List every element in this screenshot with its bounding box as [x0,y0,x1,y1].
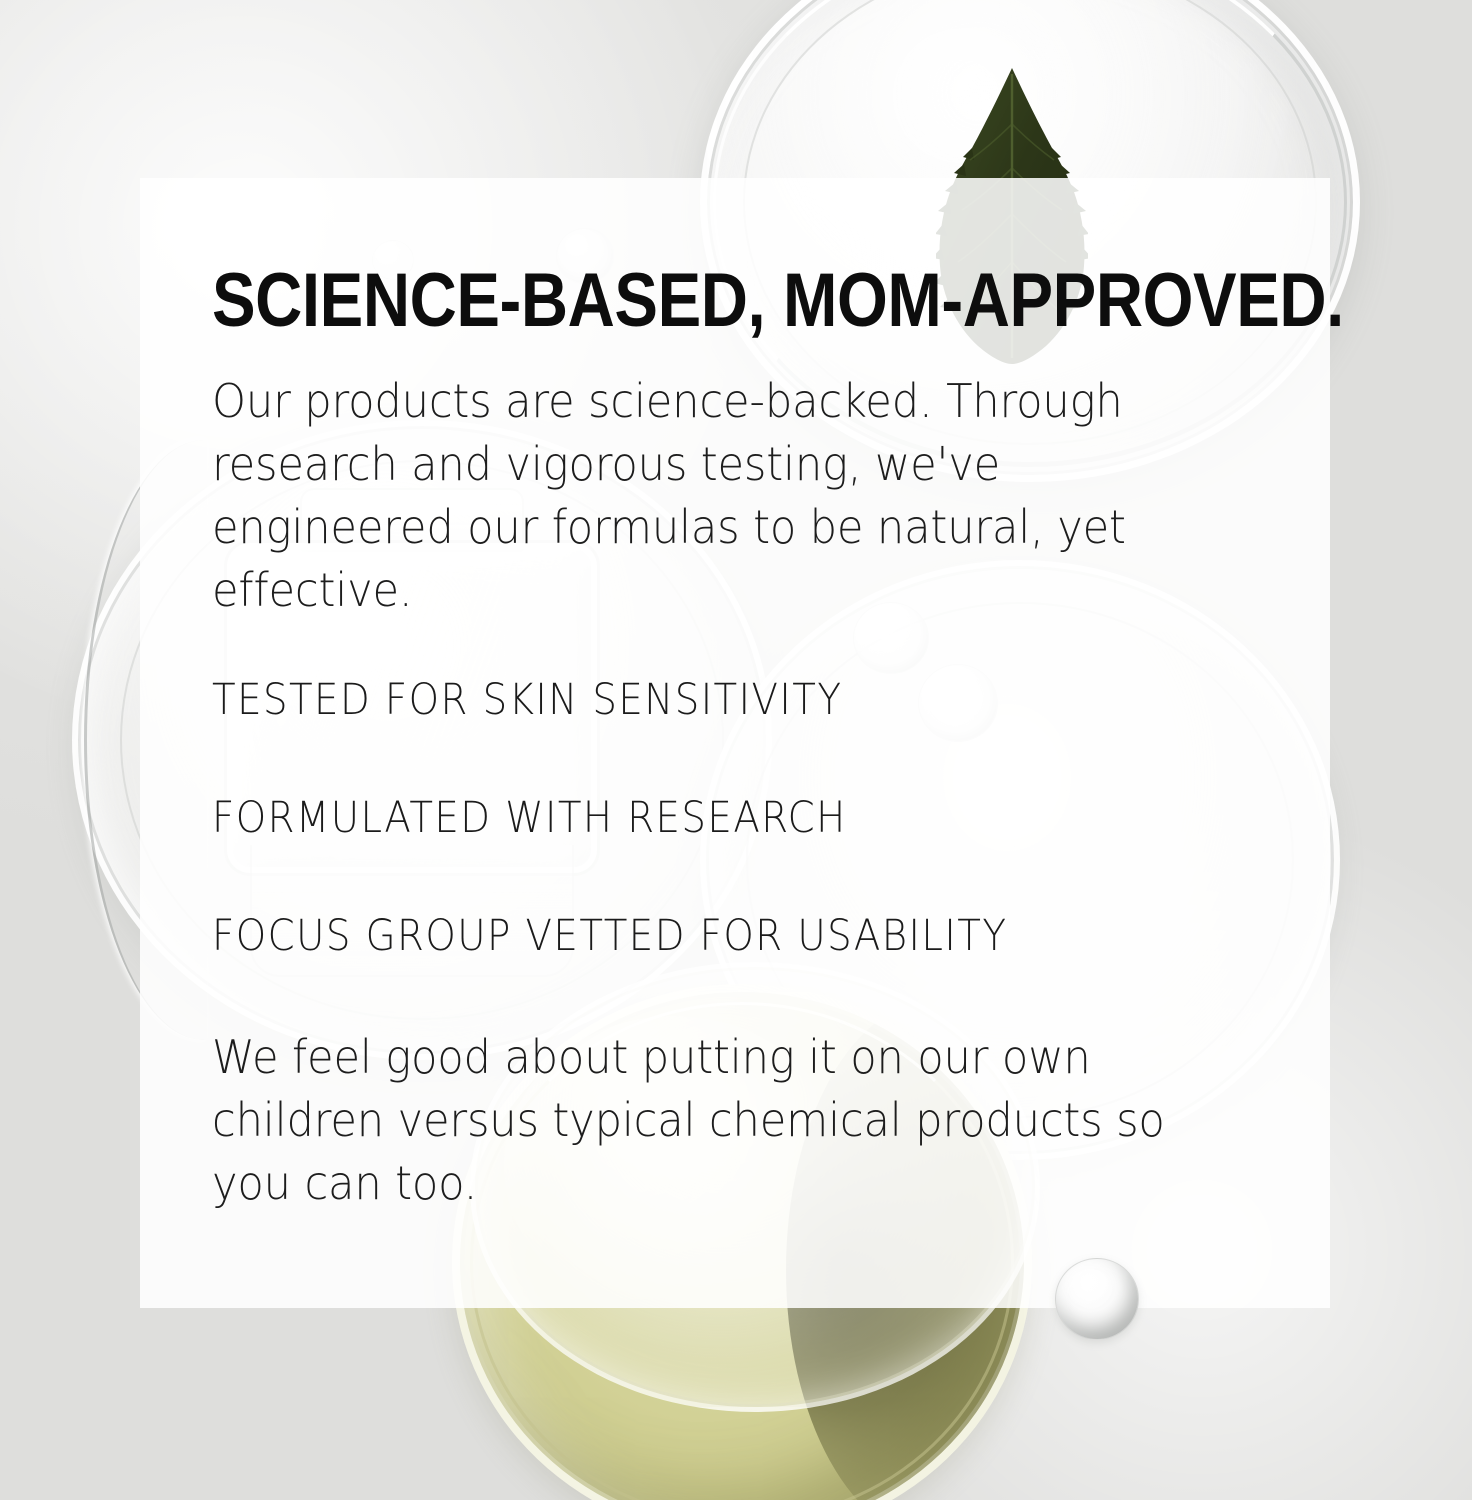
water-droplet-icon [1055,1258,1139,1340]
feature-item-usability: FOCUS GROUP VETTED FOR USABILITY [212,910,1166,962]
promo-image-canvas: SCIENCE-BASED, MOM-APPROVED. Our product… [0,0,1472,1500]
feature-item-research: FORMULATED WITH RESEARCH [212,792,1166,844]
feature-item-skin-sensitivity: TESTED FOR SKIN SENSITIVITY [212,674,1166,726]
droplet-highlight [1068,1269,1114,1309]
feature-list: TESTED FOR SKIN SENSITIVITY FORMULATED W… [212,674,1272,962]
page-title: SCIENCE-BASED, MOM-APPROVED. [212,262,1124,340]
intro-paragraph: Our products are science-backed. Through… [212,370,1208,622]
content-block: SCIENCE-BASED, MOM-APPROVED. Our product… [212,262,1272,1215]
closing-paragraph: We feel good about putting it on our own… [212,1026,1208,1215]
